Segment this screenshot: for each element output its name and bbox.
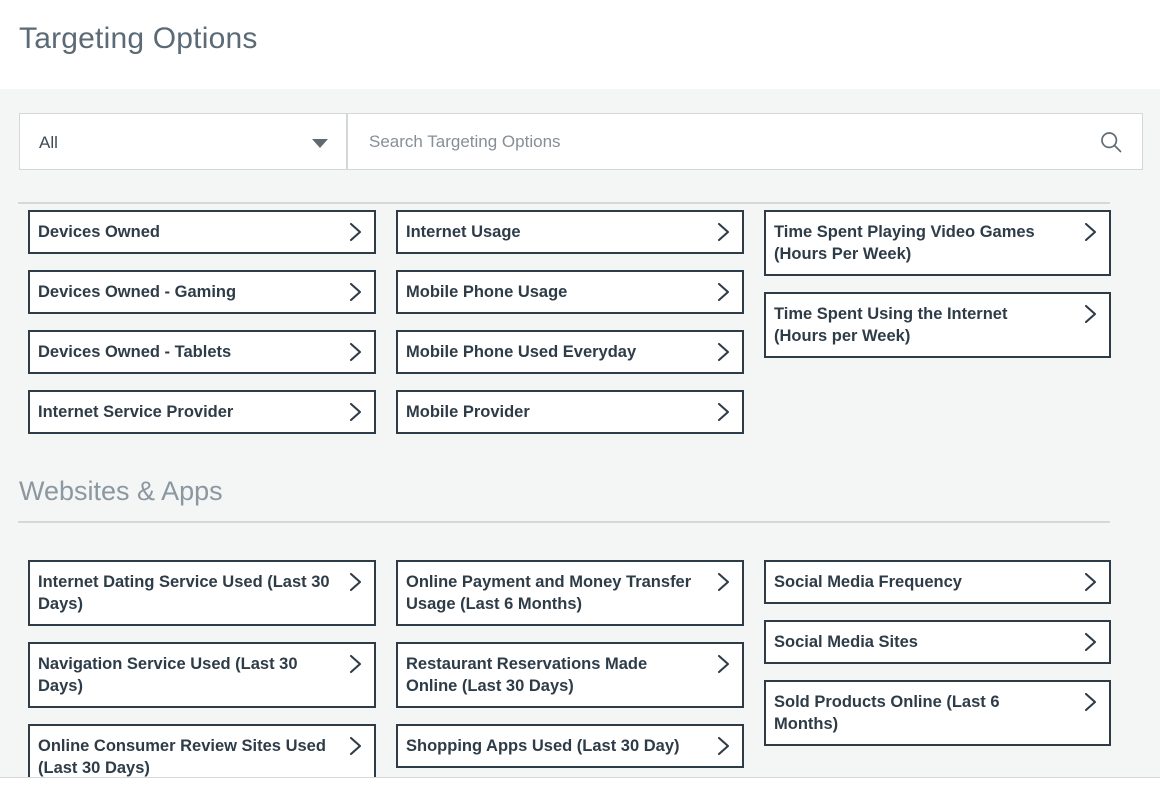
chevron-right-icon: [717, 342, 730, 362]
targeting-option-button[interactable]: Restaurant Reservations Made Online (Las…: [396, 642, 744, 708]
targeting-option-label: Internet Dating Service Used (Last 30 Da…: [38, 571, 330, 615]
targeting-option-label: Online Payment and Money Transfer Usage …: [406, 571, 698, 615]
chevron-right-icon: [1084, 222, 1097, 242]
targeting-option-label: Devices Owned - Gaming: [38, 281, 330, 303]
targeting-option-button[interactable]: Internet Usage: [396, 210, 744, 254]
targeting-option-label: Navigation Service Used (Last 30 Days): [38, 653, 330, 697]
targeting-options-page: Targeting Options All Devices O: [0, 0, 1160, 802]
option-column: Devices OwnedDevices Owned - GamingDevic…: [28, 210, 376, 450]
targeting-option-label: Sold Products Online (Last 6 Months): [774, 691, 1065, 735]
targeting-option-button[interactable]: Online Payment and Money Transfer Usage …: [396, 560, 744, 626]
option-column: Internet UsageMobile Phone UsageMobile P…: [396, 210, 744, 450]
targeting-option-button[interactable]: Time Spent Using the Internet (Hours per…: [764, 292, 1111, 358]
targeting-option-label: Devices Owned - Tablets: [38, 341, 330, 363]
chevron-right-icon: [349, 222, 362, 242]
chevron-down-icon: [312, 139, 328, 148]
search-input[interactable]: [367, 114, 1067, 169]
targeting-option-label: Online Consumer Review Sites Used (Last …: [38, 735, 330, 778]
targeting-option-label: Restaurant Reservations Made Online (Las…: [406, 653, 698, 697]
targeting-option-button[interactable]: Mobile Provider: [396, 390, 744, 434]
section-divider-websites-and-apps: [18, 521, 1110, 523]
targeting-option-label: Mobile Phone Used Everyday: [406, 341, 698, 363]
option-column: Online Payment and Money Transfer Usage …: [396, 560, 744, 778]
chevron-right-icon: [1084, 632, 1097, 652]
targeting-option-button[interactable]: Devices Owned - Gaming: [28, 270, 376, 314]
targeting-option-button[interactable]: Mobile Phone Usage: [396, 270, 744, 314]
targeting-option-button[interactable]: Shopping Apps Used (Last 30 Day): [396, 724, 744, 768]
targeting-option-label: Internet Usage: [406, 221, 698, 243]
chevron-right-icon: [1084, 692, 1097, 712]
chevron-right-icon: [717, 282, 730, 302]
filter-bar: All: [19, 113, 1143, 170]
chevron-right-icon: [349, 402, 362, 422]
chevron-right-icon: [349, 572, 362, 592]
targeting-option-button[interactable]: Devices Owned - Tablets: [28, 330, 376, 374]
page-header: Targeting Options: [0, 0, 1160, 89]
category-select[interactable]: All: [19, 113, 347, 170]
chevron-right-icon: [717, 736, 730, 756]
section-divider-top: [18, 202, 1110, 204]
targeting-option-button[interactable]: Social Media Sites: [764, 620, 1111, 664]
chevron-right-icon: [349, 282, 362, 302]
chevron-right-icon: [717, 572, 730, 592]
chevron-right-icon: [349, 736, 362, 756]
chevron-right-icon: [349, 342, 362, 362]
targeting-option-label: Mobile Phone Usage: [406, 281, 698, 303]
targeting-option-button[interactable]: Internet Dating Service Used (Last 30 Da…: [28, 560, 376, 626]
targeting-option-button[interactable]: Time Spent Playing Video Games (Hours Pe…: [764, 210, 1111, 276]
chevron-right-icon: [349, 654, 362, 674]
targeting-option-button[interactable]: Online Consumer Review Sites Used (Last …: [28, 724, 376, 778]
targeting-option-button[interactable]: Navigation Service Used (Last 30 Days): [28, 642, 376, 708]
option-column: Internet Dating Service Used (Last 30 Da…: [28, 560, 376, 778]
targeting-option-button[interactable]: Devices Owned: [28, 210, 376, 254]
targeting-option-label: Shopping Apps Used (Last 30 Day): [406, 735, 698, 757]
targeting-option-label: Social Media Frequency: [774, 571, 1065, 593]
chevron-right-icon: [717, 402, 730, 422]
search-field-wrapper[interactable]: [347, 113, 1143, 170]
section-heading-websites-and-apps: Websites & Apps: [19, 474, 223, 508]
search-icon[interactable]: [1100, 131, 1122, 153]
targeting-option-label: Time Spent Using the Internet (Hours per…: [774, 303, 1065, 347]
chevron-right-icon: [1084, 304, 1097, 324]
option-column: Time Spent Playing Video Games (Hours Pe…: [764, 210, 1111, 374]
page-title: Targeting Options: [19, 20, 258, 58]
targeting-option-button[interactable]: Social Media Frequency: [764, 560, 1111, 604]
chevron-right-icon: [717, 222, 730, 242]
targeting-option-label: Internet Service Provider: [38, 401, 330, 423]
chevron-right-icon: [1084, 572, 1097, 592]
chevron-right-icon: [717, 654, 730, 674]
targeting-option-button[interactable]: Internet Service Provider: [28, 390, 376, 434]
option-column: Social Media FrequencySocial Media Sites…: [764, 560, 1111, 762]
category-select-value: All: [39, 114, 58, 171]
targeting-option-label: Social Media Sites: [774, 631, 1065, 653]
targeting-options-panel: All Devices OwnedDevices Owned - GamingD…: [0, 89, 1160, 778]
targeting-option-button[interactable]: Mobile Phone Used Everyday: [396, 330, 744, 374]
targeting-option-label: Devices Owned: [38, 221, 330, 243]
targeting-option-label: Time Spent Playing Video Games (Hours Pe…: [774, 221, 1065, 265]
targeting-option-label: Mobile Provider: [406, 401, 698, 423]
targeting-option-button[interactable]: Sold Products Online (Last 6 Months): [764, 680, 1111, 746]
